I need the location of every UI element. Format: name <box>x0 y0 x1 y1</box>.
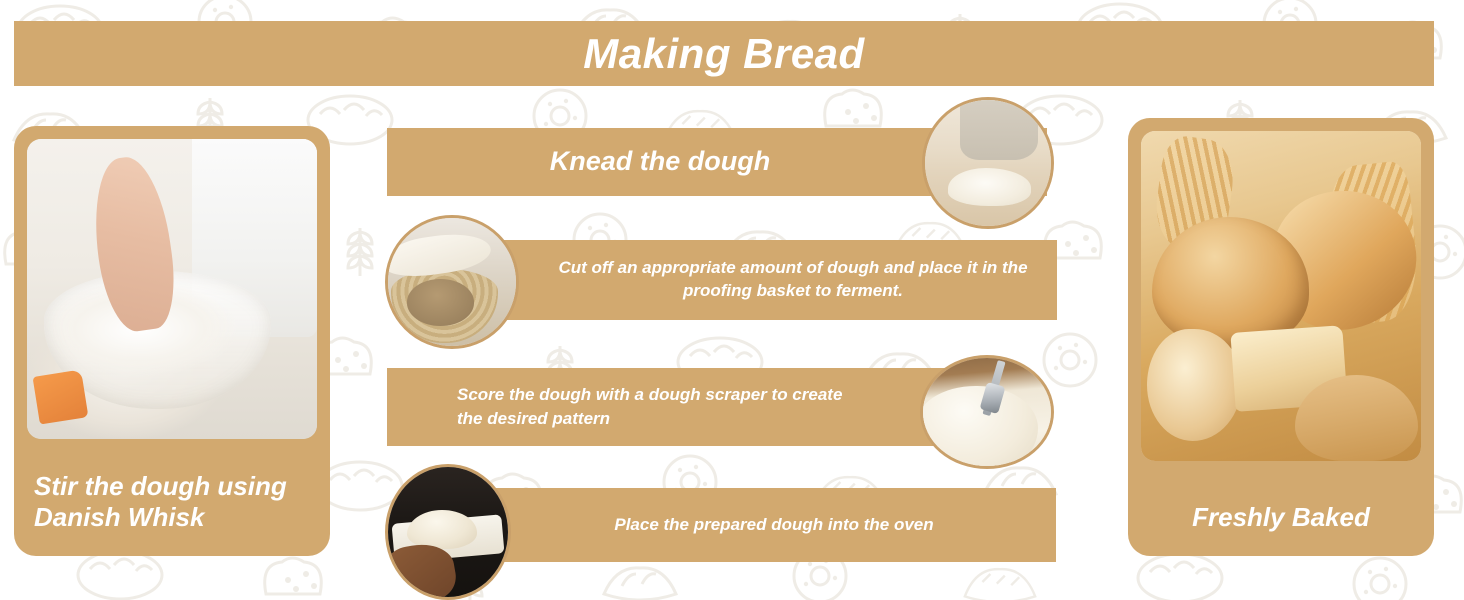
step-1-label: Knead the dough <box>413 146 907 177</box>
orange-spatula <box>32 369 88 424</box>
score-dough-photo <box>923 358 1051 466</box>
oven-photo <box>388 467 508 597</box>
left-card-caption: Stir the dough using Danish Whisk <box>14 471 330 556</box>
dough-sheet <box>385 229 493 282</box>
right-card-caption: Freshly Baked <box>1128 502 1434 556</box>
oven-loaf <box>407 510 477 549</box>
step-4-label: Place the prepared dough into the oven <box>518 514 1030 537</box>
step-3-bar: Score the dough with a dough scraper to … <box>387 368 987 446</box>
page-title-banner: Making Bread <box>14 21 1434 86</box>
right-result-card: Freshly Baked <box>1128 118 1434 556</box>
proofing-basket-photo <box>388 218 516 346</box>
step-2-label: Cut off an appropriate amount of dough a… <box>555 257 1031 303</box>
freshly-baked-photo <box>1141 131 1421 461</box>
step-3-label: Score the dough with a dough scraper to … <box>457 383 867 431</box>
step-2-photo <box>385 215 519 349</box>
stir-dough-photo <box>27 139 317 439</box>
step-1-photo <box>922 97 1054 229</box>
step-3-photo <box>920 355 1054 469</box>
left-card-photo-frame <box>27 139 317 439</box>
page-title: Making Bread <box>583 33 864 75</box>
small-roll <box>1147 329 1242 441</box>
right-card-photo-frame <box>1141 131 1421 461</box>
left-step-card: Stir the dough using Danish Whisk <box>14 126 330 556</box>
step-4-photo <box>385 464 511 600</box>
step-4-bar: Place the prepared dough into the oven <box>478 488 1056 562</box>
step-2-bar: Cut off an appropriate amount of dough a… <box>445 240 1057 320</box>
knead-dough-photo <box>925 100 1051 226</box>
bottom-loaf <box>1295 375 1418 461</box>
infographic-root: Making Bread Stir the dough using Danish… <box>0 0 1464 600</box>
lame-head <box>980 382 1006 414</box>
